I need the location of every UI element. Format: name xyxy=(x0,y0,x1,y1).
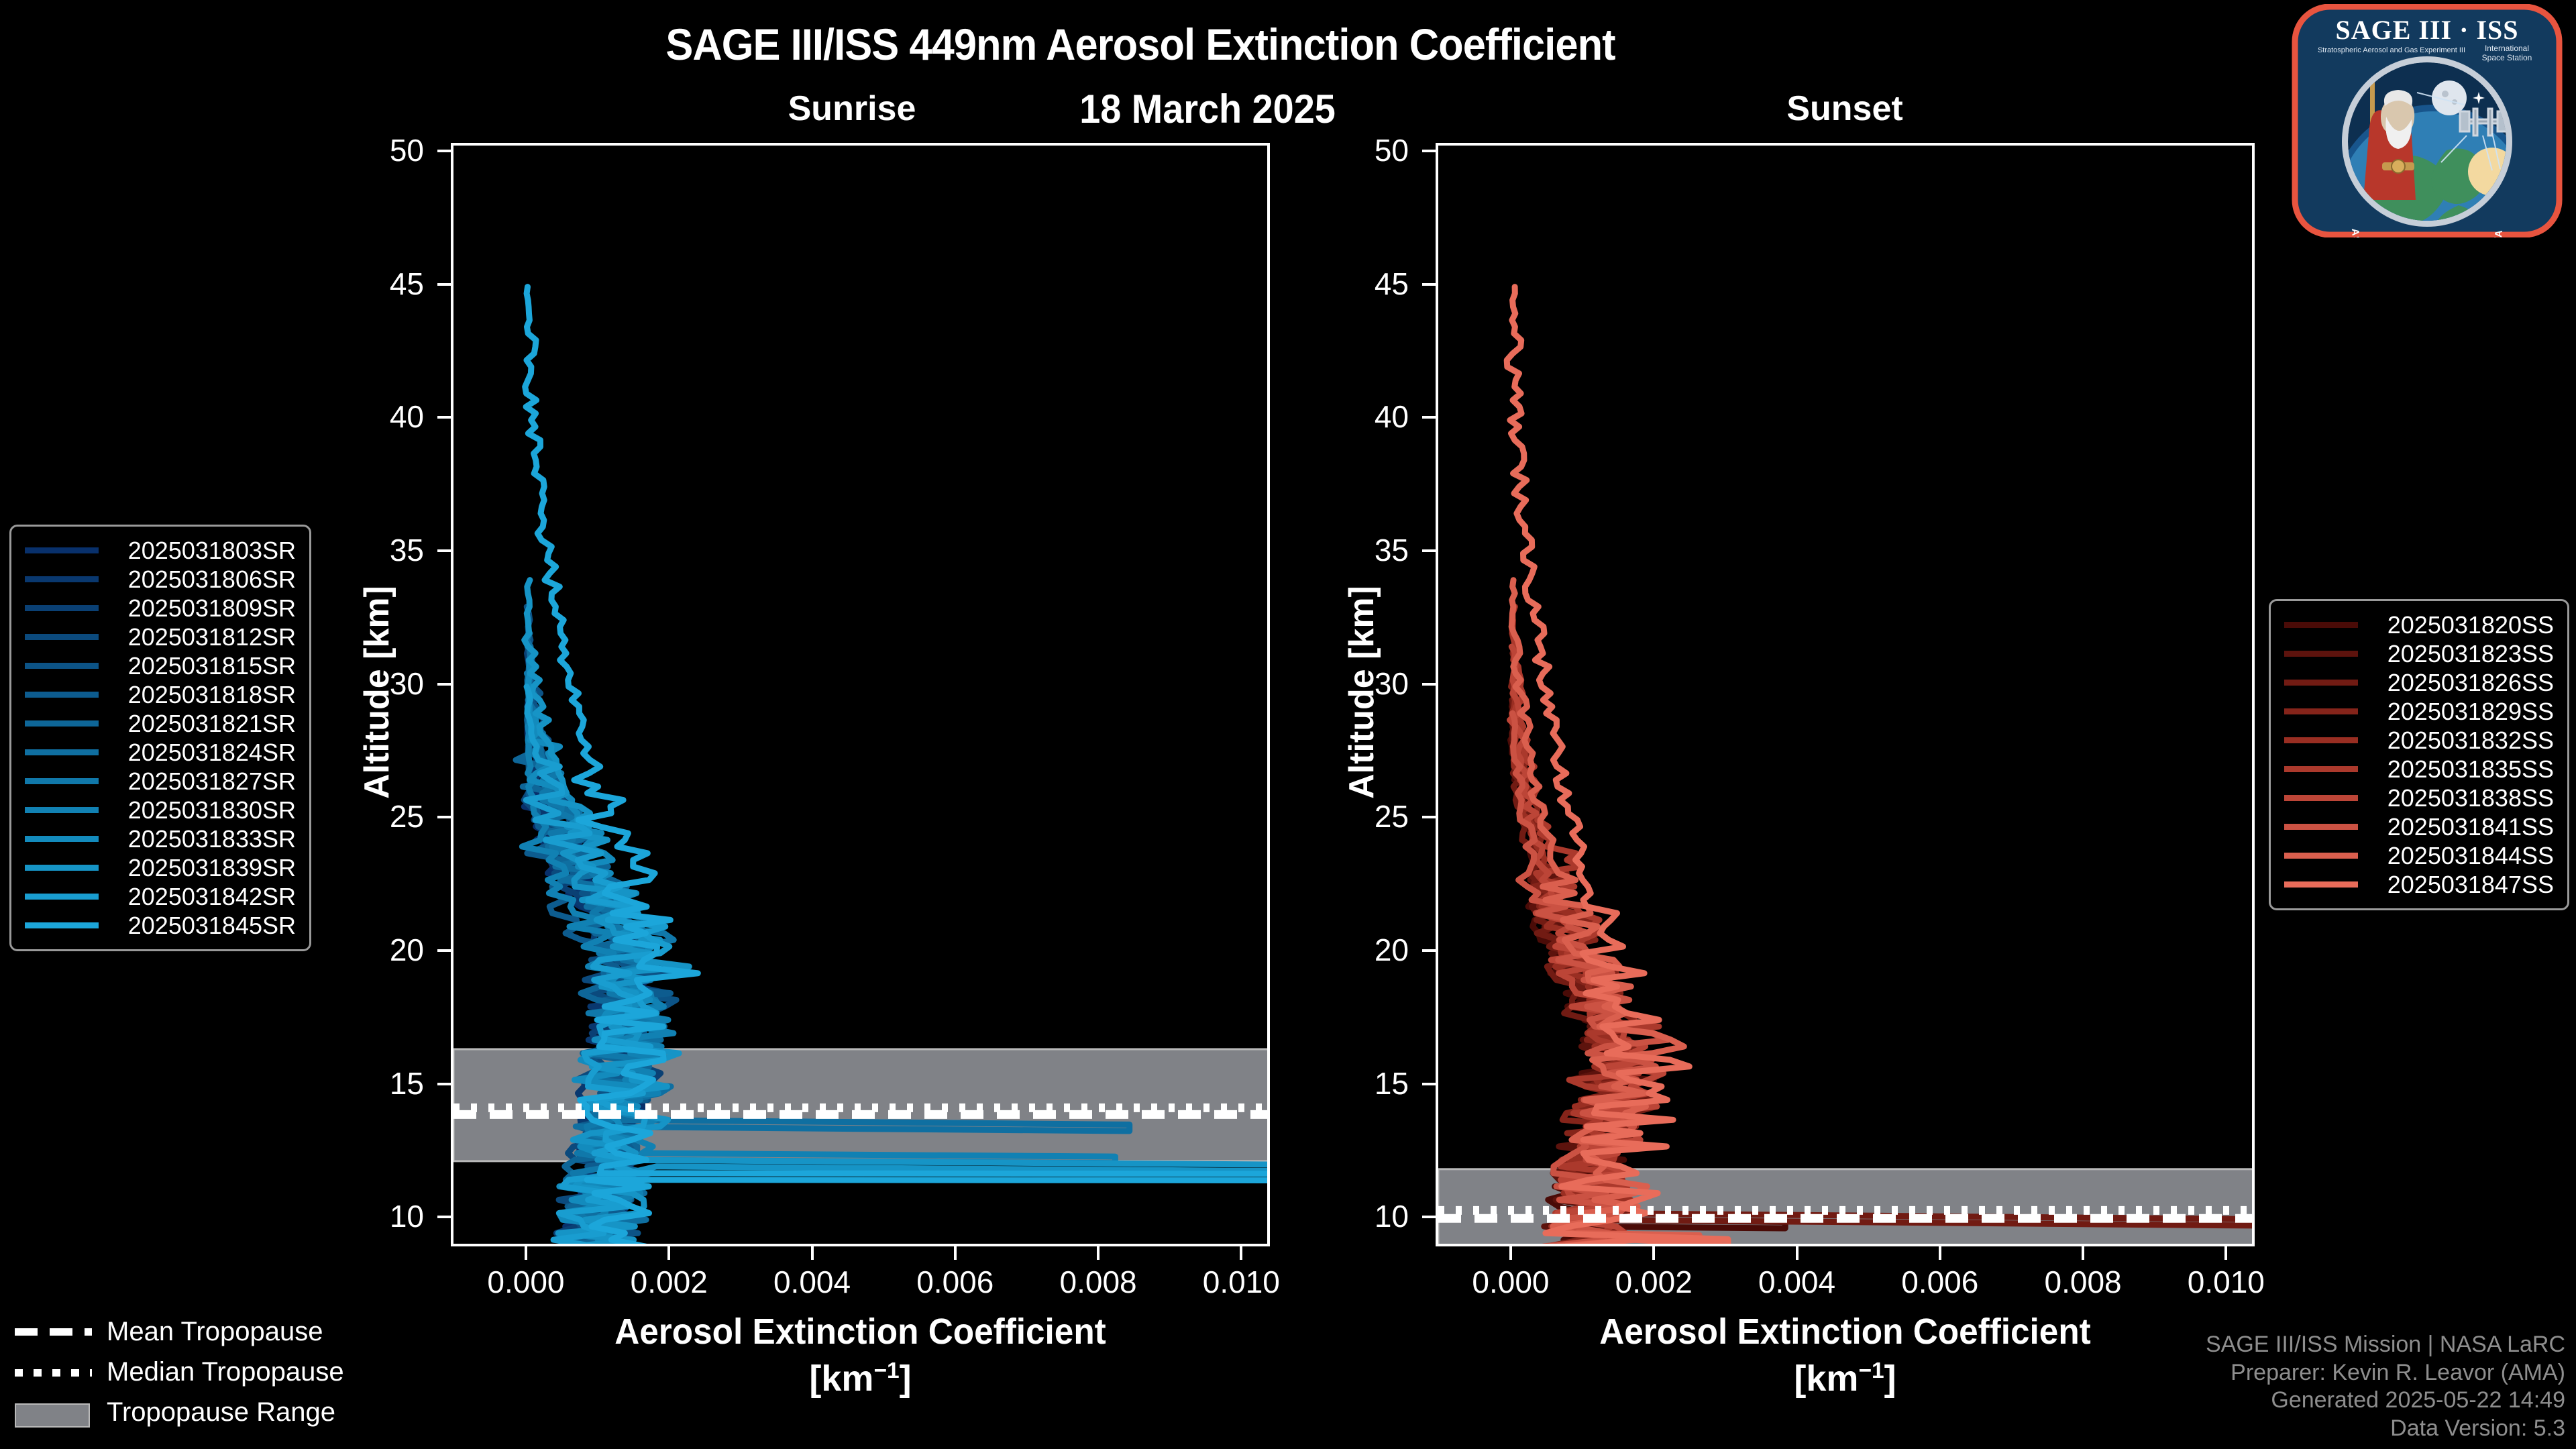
x-tick-label: 0.008 xyxy=(2016,1264,2150,1300)
legend-label: 2025031832SS xyxy=(2375,727,2554,755)
legend-color-swatch-icon xyxy=(25,778,99,784)
legend-label: 2025031833SR xyxy=(116,825,296,853)
y-tick xyxy=(1422,1216,1436,1218)
x-tick-label: 0.002 xyxy=(602,1264,736,1300)
x-tick-label: 0.010 xyxy=(1174,1264,1308,1300)
credit-line: Preparer: Kevin R. Leavor (AMA) xyxy=(2206,1359,2565,1387)
legend-item[interactable]: 2025031841SS xyxy=(2284,812,2554,841)
y-tick xyxy=(437,416,451,419)
legend-label: 2025031823SS xyxy=(2375,640,2554,668)
x-tick-label: 0.004 xyxy=(1730,1264,1864,1300)
legend-item[interactable]: 2025031812SR xyxy=(25,623,296,651)
legend-item[interactable]: 2025031829SS xyxy=(2284,697,2554,726)
legend-item[interactable]: 2025031806SR xyxy=(25,565,296,594)
legend-color-swatch-icon xyxy=(25,692,99,698)
credit-line: SAGE III/ISS Mission | NASA LaRC xyxy=(2206,1331,2565,1358)
legend-color-swatch-icon xyxy=(25,720,99,727)
legend-item[interactable]: 2025031847SS xyxy=(2284,870,2554,899)
legend-color-swatch-icon xyxy=(2284,651,2358,657)
legend-label: 2025031847SS xyxy=(2375,871,2554,899)
credit-line: Data Version: 5.3 xyxy=(2206,1415,2565,1442)
legend-item[interactable]: 2025031823SS xyxy=(2284,639,2554,668)
y-tick-label: 15 xyxy=(1335,1065,1409,1102)
legend-label: 2025031826SS xyxy=(2375,669,2554,697)
dotted-line-icon xyxy=(15,1363,92,1381)
legend-color-swatch-icon xyxy=(25,547,99,553)
legend-item[interactable]: 2025031827SR xyxy=(25,767,296,796)
legend-color-swatch-icon xyxy=(2284,622,2358,628)
legend-color-swatch-icon xyxy=(2284,766,2358,772)
legend-color-swatch-icon xyxy=(2284,708,2358,714)
legend-label: Mean Tropopause xyxy=(107,1317,323,1347)
y-tick xyxy=(437,549,451,552)
legend-item[interactable]: 2025031815SR xyxy=(25,651,296,680)
y-axis-label: Altitude [km] xyxy=(1342,558,1382,826)
sunrise-panel-title: Sunrise xyxy=(631,89,1073,129)
sunset-plot-area xyxy=(1436,143,2255,1246)
svg-text:SAGE III · ISS: SAGE III · ISS xyxy=(2335,15,2518,45)
profile-line xyxy=(1507,287,1728,1246)
legend-label: 2025031838SS xyxy=(2375,784,2554,812)
y-tick-label: 15 xyxy=(350,1065,424,1102)
x-axis-unit: [km−1] xyxy=(1382,1358,2308,1399)
legend-label: 2025031839SR xyxy=(116,854,296,882)
x-tick-label: 0.010 xyxy=(2159,1264,2293,1300)
legend-item[interactable]: 2025031833SR xyxy=(25,824,296,853)
legend-label: 2025031803SR xyxy=(116,537,296,565)
y-tick xyxy=(1422,150,1436,152)
legend-color-swatch-icon xyxy=(25,836,99,842)
sunset-legend[interactable]: 2025031820SS2025031823SS2025031826SS2025… xyxy=(2269,599,2569,910)
legend-item[interactable]: 2025031830SR xyxy=(25,796,296,824)
legend-label: 2025031829SS xyxy=(2375,698,2554,726)
x-tick xyxy=(1097,1246,1099,1260)
x-tick xyxy=(2082,1246,2084,1260)
x-tick-label: 0.004 xyxy=(745,1264,879,1300)
y-tick xyxy=(437,1216,451,1218)
legend-label: 2025031821SR xyxy=(116,710,296,738)
legend-label: 2025031845SR xyxy=(116,912,296,940)
legend-item[interactable]: 2025031818SR xyxy=(25,680,296,709)
legend-item-median-tropopause: Median Tropopause xyxy=(15,1352,377,1392)
y-tick xyxy=(437,816,451,818)
legend-item[interactable]: 2025031844SS xyxy=(2284,841,2554,870)
legend-label: 2025031830SR xyxy=(116,796,296,824)
tropopause-legend: Mean Tropopause Median Tropopause Tropop… xyxy=(15,1311,377,1432)
y-tick xyxy=(437,283,451,286)
y-tick xyxy=(437,150,451,152)
credit-line: Generated 2025-05-22 14:49 xyxy=(2206,1387,2565,1414)
legend-label: 2025031812SR xyxy=(116,623,296,651)
legend-color-swatch-icon xyxy=(2284,824,2358,830)
legend-label: 2025031844SS xyxy=(2375,842,2554,870)
sunset-panel-title: Sunset xyxy=(1623,89,2066,129)
y-tick-label: 45 xyxy=(1335,266,1409,302)
legend-item[interactable]: 2025031809SR xyxy=(25,594,296,623)
y-axis-label: Altitude [km] xyxy=(357,558,397,826)
legend-color-swatch-icon xyxy=(2284,795,2358,801)
legend-color-swatch-icon xyxy=(2284,737,2358,743)
gray-band-swatch-icon xyxy=(15,1403,92,1421)
y-tick xyxy=(437,1083,451,1085)
x-tick xyxy=(525,1246,527,1260)
legend-label: 2025031806SR xyxy=(116,566,296,594)
legend-item[interactable]: 2025031845SR xyxy=(25,911,296,940)
legend-item-tropopause-range: Tropopause Range xyxy=(15,1392,377,1432)
legend-color-swatch-icon xyxy=(25,865,99,871)
legend-color-swatch-icon xyxy=(25,605,99,611)
x-axis-label: Aerosol Extinction Coefficient xyxy=(421,1311,1301,1352)
y-tick xyxy=(1422,949,1436,952)
x-tick xyxy=(811,1246,814,1260)
x-tick-label: 0.002 xyxy=(1587,1264,1721,1300)
x-tick xyxy=(1240,1246,1242,1260)
legend-color-swatch-icon xyxy=(25,634,99,640)
y-tick xyxy=(1422,683,1436,686)
y-tick xyxy=(1422,816,1436,818)
x-tick xyxy=(1652,1246,1655,1260)
x-tick xyxy=(954,1246,957,1260)
svg-text:Space Station: Space Station xyxy=(2482,53,2532,62)
legend-label: 2025031815SR xyxy=(116,652,296,680)
legend-label: Median Tropopause xyxy=(107,1357,344,1387)
legend-item[interactable]: 2025031821SR xyxy=(25,709,296,738)
sunrise-plot-area xyxy=(451,143,1270,1246)
x-tick xyxy=(667,1246,670,1260)
svg-text:International: International xyxy=(2485,44,2529,53)
x-axis-unit: [km−1] xyxy=(397,1358,1324,1399)
x-tick-label: 0.006 xyxy=(888,1264,1022,1300)
y-tick xyxy=(1422,1083,1436,1085)
y-tick-label: 50 xyxy=(350,132,424,168)
legend-color-swatch-icon xyxy=(25,663,99,669)
page-title: SAGE III/ISS 449nm Aerosol Extinction Co… xyxy=(80,19,2201,70)
legend-color-swatch-icon xyxy=(25,807,99,813)
x-tick-label: 0.006 xyxy=(1873,1264,2007,1300)
x-tick-label: 0.000 xyxy=(459,1264,593,1300)
legend-label: 2025031818SR xyxy=(116,681,296,709)
y-tick-label: 40 xyxy=(350,398,424,435)
legend-item[interactable]: 2025031820SS xyxy=(2284,610,2554,639)
y-tick-label: 50 xyxy=(1335,132,1409,168)
legend-color-swatch-icon xyxy=(25,576,99,582)
x-tick-label: 0.008 xyxy=(1031,1264,1165,1300)
plot-canvas xyxy=(1438,146,2255,1246)
y-tick xyxy=(1422,549,1436,552)
y-tick-label: 10 xyxy=(1335,1198,1409,1234)
legend-label: 2025031841SS xyxy=(2375,813,2554,841)
credits-block: SAGE III/ISS Mission | NASA LaRC Prepare… xyxy=(2206,1331,2565,1442)
y-tick-label: 45 xyxy=(350,266,424,302)
svg-text:Stratospheric Aerosol and Gas: Stratospheric Aerosol and Gas Experiment… xyxy=(2318,46,2465,54)
legend-color-swatch-icon xyxy=(25,749,99,755)
legend-label: 2025031842SR xyxy=(116,883,296,911)
legend-label: 2025031835SS xyxy=(2375,755,2554,784)
legend-color-swatch-icon xyxy=(25,894,99,900)
legend-label: 2025031827SR xyxy=(116,767,296,796)
y-tick xyxy=(437,949,451,952)
y-tick xyxy=(1422,416,1436,419)
x-tick xyxy=(1509,1246,1512,1260)
legend-color-swatch-icon xyxy=(2284,881,2358,888)
dashed-line-icon xyxy=(15,1323,92,1340)
legend-item[interactable]: 2025031832SS xyxy=(2284,726,2554,755)
x-tick xyxy=(1939,1246,1941,1260)
x-tick-label: 0.000 xyxy=(1444,1264,1578,1300)
sage-iii-iss-mission-patch-logo: SAGE III · ISS Stratospheric Aerosol and… xyxy=(2291,4,2563,237)
legend-label: Tropopause Range xyxy=(107,1397,335,1428)
y-tick-label: 10 xyxy=(350,1198,424,1234)
legend-item[interactable]: 2025031838SS xyxy=(2284,784,2554,812)
x-tick xyxy=(2224,1246,2227,1260)
legend-color-swatch-icon xyxy=(25,922,99,928)
plot-canvas xyxy=(453,146,1270,1246)
legend-label: 2025031809SR xyxy=(116,594,296,623)
legend-item[interactable]: 2025031824SR xyxy=(25,738,296,767)
legend-item[interactable]: 2025031826SS xyxy=(2284,668,2554,697)
legend-item[interactable]: 2025031835SS xyxy=(2284,755,2554,784)
y-tick xyxy=(1422,283,1436,286)
x-tick xyxy=(1796,1246,1799,1260)
x-axis-label: Aerosol Extinction Coefficient xyxy=(1405,1311,2286,1352)
legend-label: 2025031820SS xyxy=(2375,611,2554,639)
y-tick xyxy=(437,683,451,686)
y-tick-label: 20 xyxy=(350,932,424,968)
y-tick-label: 20 xyxy=(1335,932,1409,968)
sunrise-legend[interactable]: 2025031803SR2025031806SR2025031809SR2025… xyxy=(9,525,311,951)
legend-color-swatch-icon xyxy=(2284,853,2358,859)
legend-item[interactable]: 2025031839SR xyxy=(25,853,296,882)
legend-item[interactable]: 2025031803SR xyxy=(25,536,296,565)
legend-color-swatch-icon xyxy=(2284,680,2358,686)
y-tick-label: 40 xyxy=(1335,398,1409,435)
legend-label: 2025031824SR xyxy=(116,739,296,767)
legend-item-mean-tropopause: Mean Tropopause xyxy=(15,1311,377,1352)
legend-item[interactable]: 2025031842SR xyxy=(25,882,296,911)
